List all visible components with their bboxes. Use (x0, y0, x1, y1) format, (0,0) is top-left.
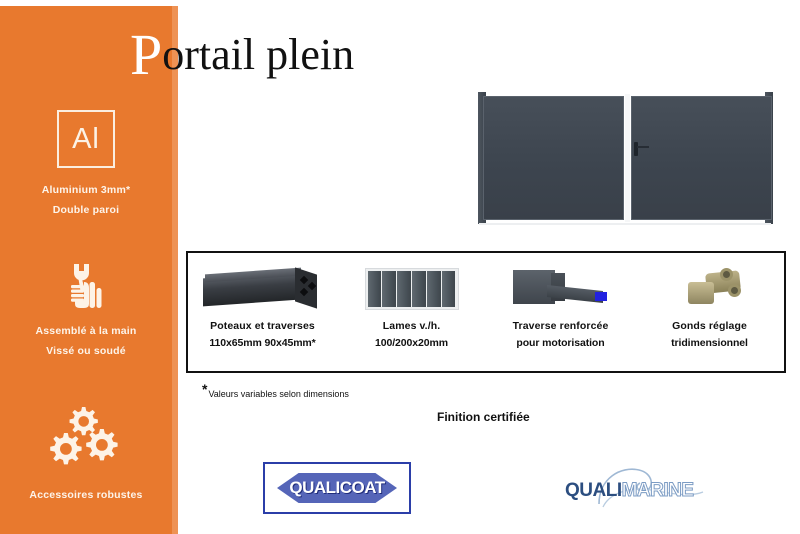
gate-handle-bar-icon (637, 146, 649, 148)
component-sub-lames: 100/200x20mm (337, 335, 486, 352)
components-box: Poteaux et traverses 110x65mm 90x45mm* L… (186, 251, 786, 373)
component-sub-poteaux: 110x65mm 90x45mm* (188, 335, 337, 352)
component-label-lames: Lames v./h. (337, 318, 486, 335)
sidebar-feature-accessories-line1: Accessoires robustes (0, 485, 172, 505)
component-sub-motorisation: pour motorisation (486, 335, 635, 352)
aluminium-profile-icon (188, 260, 337, 318)
sidebar-feature-accessories: Accessoires robustes (0, 405, 172, 505)
gate-handle-icon (634, 142, 638, 156)
sidebar-feature-assembly-line1: Assemblé à la main (0, 321, 172, 341)
qualimarine-logo-text: QUALIMARINE (565, 480, 715, 502)
slide-root: Al Aluminium 3mm* Double paroi (0, 0, 800, 534)
aluminium-square-icon: Al (57, 110, 115, 168)
footnote-asterisk: * (202, 381, 207, 397)
gate-ground-shadow (479, 223, 771, 225)
sidebar-feature-assembly: Assemblé à la main Vissé ou soudé (0, 255, 172, 361)
sidebar-feature-aluminium-line1: Aluminium 3mm* (0, 180, 172, 200)
qualimarine-text-primary: QUALI (565, 480, 622, 501)
component-label-poteaux: Poteaux et traverses (188, 318, 337, 335)
component-label-motorisation: Traverse renforcée (486, 318, 635, 335)
component-item-lames: Lames v./h. 100/200x20mm (337, 253, 486, 371)
gate-center-gap (625, 94, 630, 222)
hand-wrench-icon (0, 255, 172, 317)
qualicoat-logo-text: QUALICOAT (265, 478, 409, 498)
page-title: Portail plein (130, 28, 354, 82)
sidebar-feature-aluminium: Al Aluminium 3mm* Double paroi (0, 110, 172, 220)
aluminium-symbol-label: Al (72, 125, 100, 154)
sidebar-feature-aluminium-line2: Double paroi (0, 200, 172, 220)
component-item-gonds: Gonds réglage tridimensionnel (635, 253, 784, 371)
gate-product-image (471, 88, 781, 232)
component-item-motorisation: Traverse renforcée pour motorisation (486, 253, 635, 371)
component-sub-gonds: tridimensionnel (635, 335, 784, 352)
adjustable-hinge-icon (635, 260, 784, 318)
page-title-initial: P (130, 22, 162, 87)
qualicoat-logo: QUALICOAT (263, 462, 411, 514)
footnote-text: Valeurs variables selon dimensions (208, 389, 348, 399)
gate-leaf-left (483, 96, 624, 220)
motorisation-beam-icon (486, 260, 635, 318)
component-item-poteaux: Poteaux et traverses 110x65mm 90x45mm* (188, 253, 337, 371)
qualimarine-logo: QUALIMARINE (565, 468, 715, 512)
certification-heading: Finition certifiée (437, 410, 530, 424)
qualimarine-text-secondary: MARINE (622, 480, 694, 501)
gate-leaf-right (631, 96, 772, 220)
gears-icon (0, 405, 172, 467)
sidebar-accent-edge (172, 6, 178, 534)
slats-panel-icon (337, 260, 486, 318)
sidebar-feature-assembly-line2: Vissé ou soudé (0, 341, 172, 361)
page-title-rest: ortail plein (162, 30, 354, 79)
component-label-gonds: Gonds réglage (635, 318, 784, 335)
footnote: *Valeurs variables selon dimensions (202, 381, 349, 399)
